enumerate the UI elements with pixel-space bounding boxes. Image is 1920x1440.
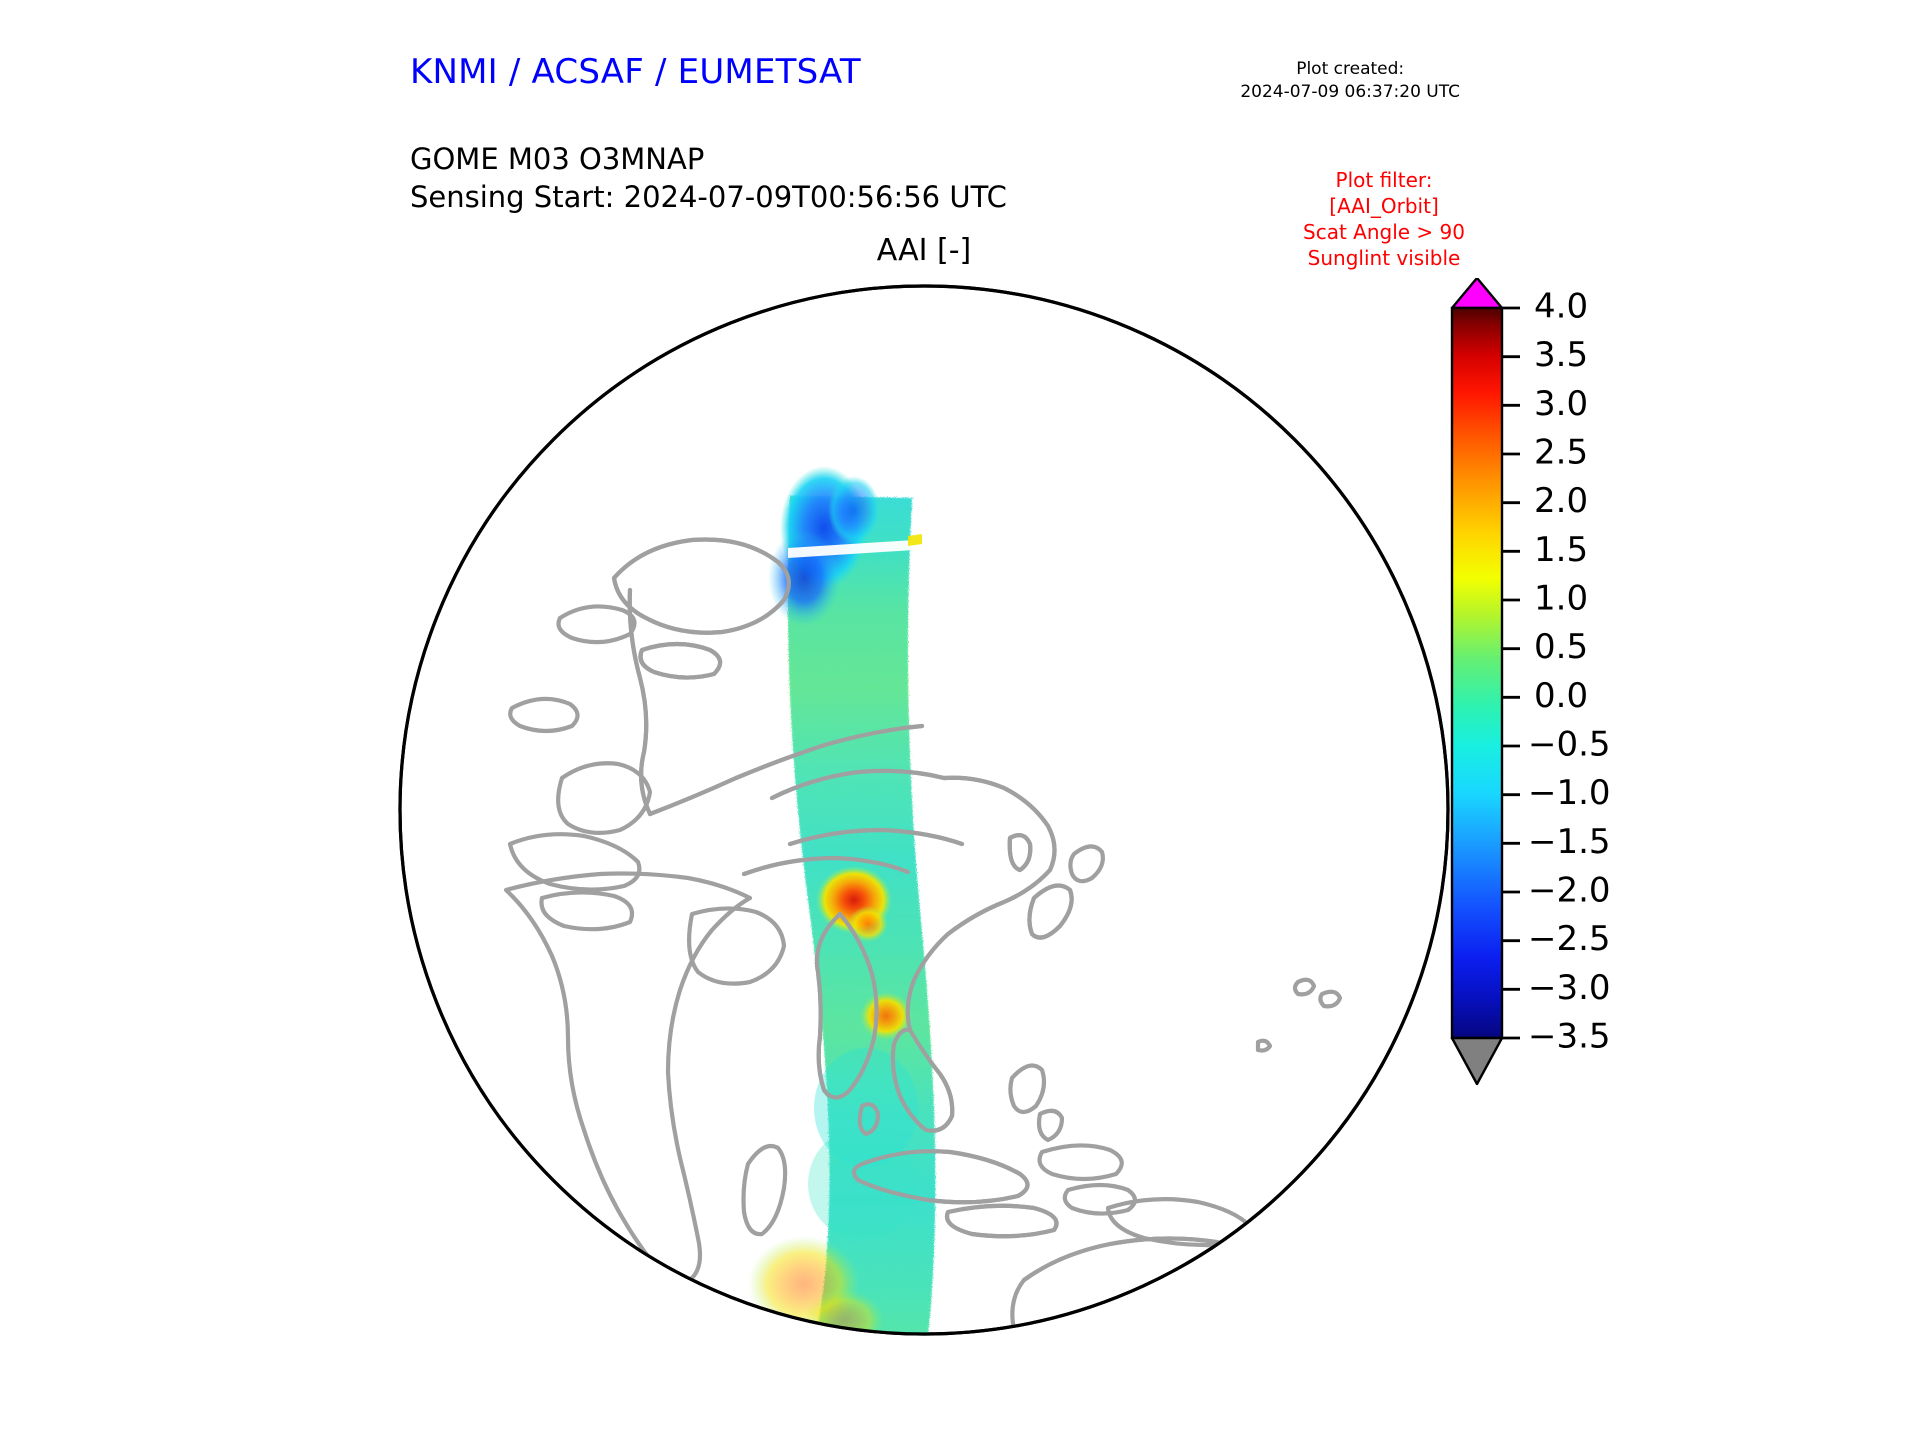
cb-label-13: −2.5 [1528, 919, 1611, 959]
colorbar-tick-labels: 4.0 3.5 3.0 2.5 2.0 1.5 1.0 0.5 0.0 −0.5… [1528, 287, 1611, 1057]
cb-label-12: −2.0 [1528, 871, 1611, 911]
colorbar: 4.0 3.5 3.0 2.5 2.0 1.5 1.0 0.5 0.0 −0.5… [1440, 278, 1740, 1098]
cb-label-4: 2.0 [1534, 481, 1588, 521]
cb-label-9: −0.5 [1528, 725, 1611, 765]
cb-label-14: −3.0 [1528, 968, 1611, 1008]
variable-title: AAI [-] [0, 233, 1848, 268]
cb-label-15: −3.5 [1528, 1017, 1611, 1057]
instrument-title: GOME M03 O3MNAP [410, 140, 1007, 178]
colorbar-ticks [1502, 308, 1520, 1038]
colorbar-over-range-arrow [1452, 278, 1502, 308]
cb-label-8: 0.0 [1534, 676, 1588, 716]
cb-label-3: 2.5 [1534, 433, 1588, 473]
cb-label-2: 3.0 [1534, 384, 1588, 424]
colorbar-gradient [1452, 308, 1502, 1038]
plot-created-block: Plot created: 2024-07-09 06:37:20 UTC [1240, 58, 1460, 104]
cb-label-10: −1.0 [1528, 773, 1611, 813]
sensing-start-title: Sensing Start: 2024-07-09T00:56:56 UTC [410, 178, 1007, 216]
title-block: GOME M03 O3MNAP Sensing Start: 2024-07-0… [410, 140, 1007, 217]
plot-filter-orbit: [AAI_Orbit] [1303, 193, 1465, 219]
organizations-header: KNMI / ACSAF / EUMETSAT [410, 52, 861, 92]
colorbar-under-range-arrow [1452, 1038, 1502, 1084]
cb-label-0: 4.0 [1534, 287, 1588, 327]
plot-filter-label: Plot filter: [1303, 167, 1465, 193]
cb-label-6: 1.0 [1534, 579, 1588, 619]
map-panel [392, 278, 1456, 1342]
cb-label-1: 3.5 [1534, 335, 1588, 375]
cb-label-11: −1.5 [1528, 822, 1611, 862]
cb-label-7: 0.5 [1534, 627, 1588, 667]
plot-created-timestamp: 2024-07-09 06:37:20 UTC [1240, 81, 1460, 104]
cb-label-5: 1.5 [1534, 530, 1588, 570]
plot-created-label: Plot created: [1240, 58, 1460, 81]
